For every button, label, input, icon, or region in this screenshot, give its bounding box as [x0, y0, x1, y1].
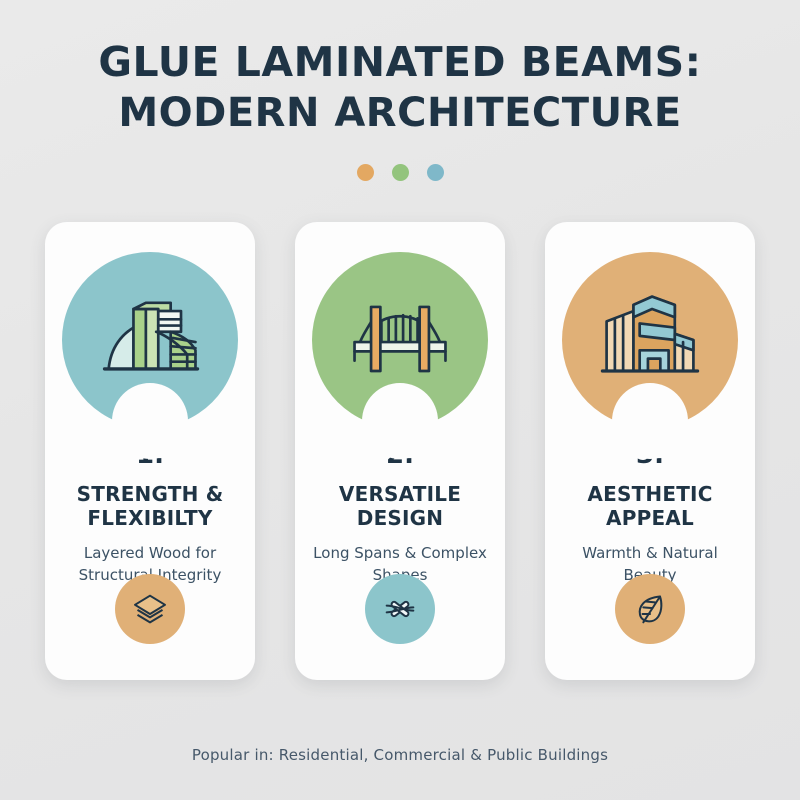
card-title-3: AESTHETIC APPEAL	[545, 482, 755, 531]
page-title: GLUE LAMINATED BEAMS: MODERN ARCHITECTUR…	[0, 0, 800, 140]
card-badge-1	[115, 574, 185, 644]
dot-blue	[427, 164, 444, 181]
feature-card-list: 1. STRENGTH & FLEXIBILTY Layered Wood fo…	[0, 222, 800, 680]
feature-card-2[interactable]: 2. VERSATILE DESIGN Long Spans & Complex…	[295, 222, 505, 680]
card-title-2: VERSATILE DESIGN	[295, 482, 505, 531]
card-badge-2	[365, 574, 435, 644]
feature-card-1[interactable]: 1. STRENGTH & FLEXIBILTY Layered Wood fo…	[45, 222, 255, 680]
feature-card-3[interactable]: 3. AESTHETIC APPEAL Warmth & Natural Bea…	[545, 222, 755, 680]
footer-note: Popular in: Residential, Commercial & Pu…	[0, 746, 800, 764]
modern-building-icon	[88, 278, 212, 402]
hero-circle-fill-1	[62, 252, 238, 428]
crossed-beams-icon	[380, 589, 420, 629]
hero-circle-3	[562, 252, 738, 428]
card-title-1: STRENGTH & FLEXIBILTY	[45, 482, 255, 531]
office-building-icon	[588, 278, 712, 402]
dot-green	[392, 164, 409, 181]
leaf-icon	[630, 589, 670, 629]
dot-orange	[357, 164, 374, 181]
divider-dots	[0, 164, 800, 181]
title-line-2: MODERN ARCHITECTURE	[0, 88, 800, 139]
suspension-bridge-icon	[338, 278, 462, 402]
infographic-poster: GLUE LAMINATED BEAMS: MODERN ARCHITECTUR…	[0, 0, 800, 800]
layers-icon	[130, 589, 170, 629]
hero-circle-2	[312, 252, 488, 428]
hero-circle-fill-3	[562, 252, 738, 428]
hero-circle-1	[62, 252, 238, 428]
hero-circle-fill-2	[312, 252, 488, 428]
card-badge-3	[615, 574, 685, 644]
title-line-1: GLUE LAMINATED BEAMS:	[0, 36, 800, 88]
